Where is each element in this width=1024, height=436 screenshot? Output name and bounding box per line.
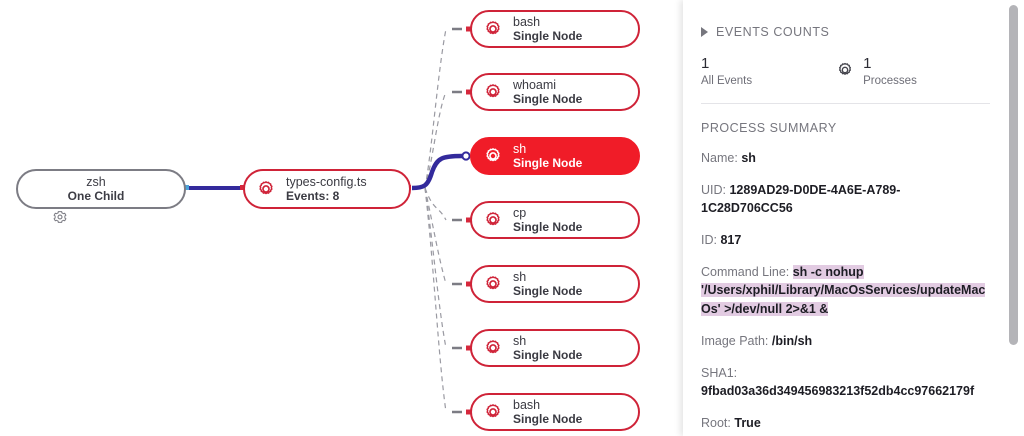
field-value: 1289AD29-D0DE-4A6E-A789-1C28D706CC56 [701,183,900,215]
processes-label: Processes [863,75,917,87]
graph-node-zsh[interactable]: zsh One Child [16,169,186,209]
field-key: SHA1: [701,366,737,380]
field-value: sh [741,151,756,165]
panel-scrollbar-thumb[interactable] [1009,5,1018,345]
field-id: ID: 817 [701,231,990,249]
node-labels: bash Single Node [513,15,582,44]
node-labels: cp Single Node [513,206,582,235]
all-events-label: All Events [701,75,752,87]
node-title: sh [513,270,582,285]
field-key: Root: [701,416,731,430]
field-value: /bin/sh [772,334,812,348]
node-labels: sh Single Node [513,142,582,171]
field-value: 817 [720,233,741,247]
graph-node-child-3[interactable]: cp Single Node [470,201,640,239]
processes-value: 1 [863,56,917,72]
node-subtitle: Single Node [513,220,582,234]
graph-node-child-1[interactable]: whoami Single Node [470,73,640,111]
node-labels: types-config.ts Events: 8 [286,175,367,204]
gear-icon [482,401,504,423]
gear-icon [482,209,504,231]
graph-node-child-5[interactable]: sh Single Node [470,329,640,367]
node-subtitle: Single Node [513,29,582,43]
graph-node-child-4[interactable]: sh Single Node [470,265,640,303]
node-subtitle: Single Node [513,92,582,106]
node-labels: sh Single Node [513,334,582,363]
field-key: Command Line: [701,265,789,279]
node-subtitle: Single Node [513,284,582,298]
field-uid: UID: 1289AD29-D0DE-4A6E-A789-1C28D706CC5… [701,181,990,217]
gear-icon [255,178,277,200]
panel-divider [701,103,990,104]
details-panel-content: EVENTS COUNTS 1 All Events 1 [683,0,1008,436]
field-key: ID: [701,233,717,247]
node-subtitle: Single Node [513,412,582,426]
node-title: sh [513,142,582,157]
node-subtitle: Single Node [513,348,582,362]
gear-icon [482,81,504,103]
gear-icon [482,337,504,359]
gear-icon [835,60,855,80]
graph-node-child-2-selected[interactable]: sh Single Node [470,137,640,175]
field-key: UID: [701,183,726,197]
node-subtitle: One Child [68,189,125,203]
node-subtitle: Events: 8 [286,189,367,203]
gear-icon [482,273,504,295]
node-labels: bash Single Node [513,398,582,427]
processes-count[interactable]: 1 Processes [835,56,917,87]
field-name: Name: sh [701,149,990,167]
field-root: Root: True [701,414,990,432]
field-value: True [734,416,760,430]
process-summary-header: PROCESS SUMMARY [701,121,990,135]
gear-icon[interactable] [52,209,68,225]
events-counts-header[interactable]: EVENTS COUNTS [701,0,990,39]
node-title: bash [513,15,582,30]
field-command-line: Command Line: sh -c nohup '/Users/xphil/… [701,263,990,317]
triangle-right-icon [701,27,708,37]
all-events-value: 1 [701,56,752,72]
field-key: Name: [701,151,738,165]
gear-icon [482,18,504,40]
node-title: sh [513,334,582,349]
process-graph-canvas[interactable]: zsh One Child types-config.ts Events: 8 [0,0,684,436]
panel-scrollbar-track[interactable] [1012,0,1021,436]
node-title: types-config.ts [286,175,367,190]
events-counts-row: 1 All Events 1 Processes [701,56,990,87]
node-title: bash [513,398,582,413]
details-panel: EVENTS COUNTS 1 All Events 1 [683,0,1024,436]
process-graph-app: zsh One Child types-config.ts Events: 8 [0,0,1024,436]
field-image-path: Image Path: /bin/sh [701,332,990,350]
node-labels: zsh One Child [18,175,174,204]
events-counts-title: EVENTS COUNTS [716,25,829,39]
node-labels: whoami Single Node [513,78,582,107]
node-labels: sh Single Node [513,270,582,299]
graph-node-child-6[interactable]: bash Single Node [470,393,640,431]
graph-node-child-0[interactable]: bash Single Node [470,10,640,48]
gear-icon [482,145,504,167]
node-title: whoami [513,78,582,93]
field-key: Image Path: [701,334,768,348]
all-events-count[interactable]: 1 All Events [701,56,752,87]
field-value: 9fbad03a36d349456983213f52db4cc97662179f [701,384,974,398]
graph-node-types-config[interactable]: types-config.ts Events: 8 [243,169,411,209]
node-title: zsh [86,175,105,190]
node-subtitle: Single Node [513,156,582,170]
field-sha1: SHA1: 9fbad03a36d349456983213f52db4cc976… [701,364,990,400]
node-title: cp [513,206,582,221]
